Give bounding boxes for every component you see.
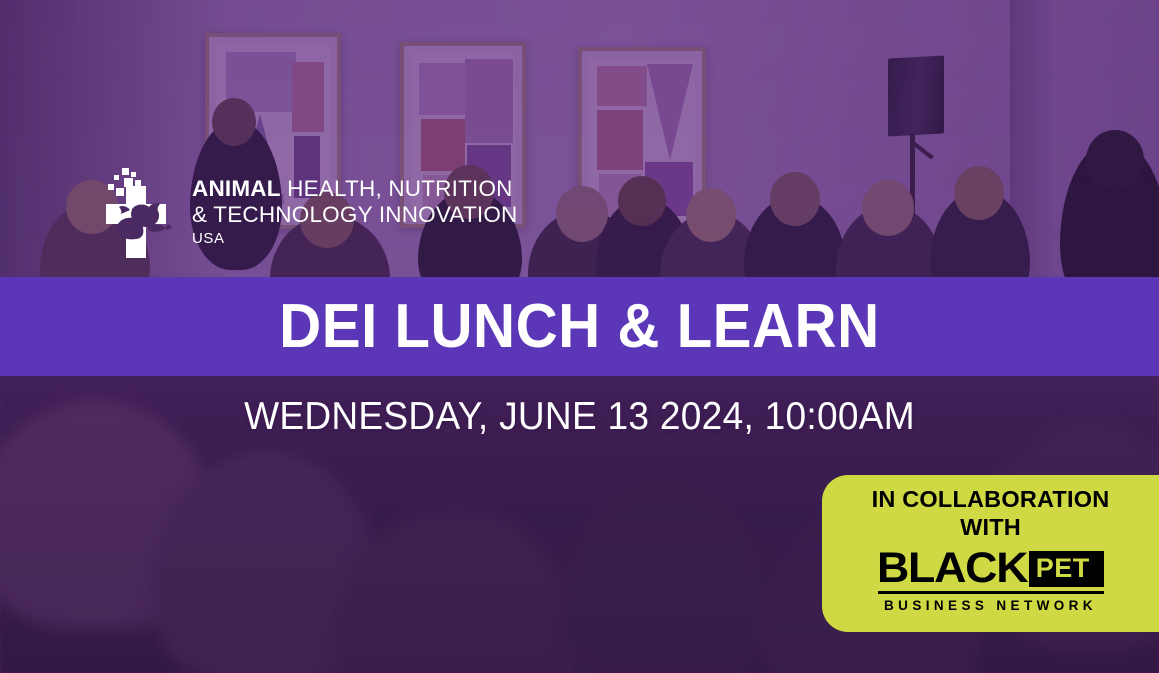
event-logo-wordmark: ANIMAL HEALTH, NUTRITION & TECHNOLOGY IN… bbox=[192, 178, 518, 246]
event-logo-line1-bold: ANIMAL bbox=[192, 176, 281, 201]
event-logo-line2: & TECHNOLOGY INNOVATION bbox=[192, 204, 518, 227]
partner-logo-row: BLACK PET bbox=[878, 550, 1104, 588]
event-logo-line1-rest: HEALTH, NUTRITION bbox=[281, 176, 513, 201]
event-logo-region: USA bbox=[192, 231, 518, 246]
event-promo-banner: ANIMAL HEALTH, NUTRITION & TECHNOLOGY IN… bbox=[0, 0, 1159, 673]
page-title: DEI LUNCH & LEARN bbox=[279, 296, 879, 358]
partner-logo: BLACK PET BUSINESS NETWORK bbox=[878, 550, 1104, 613]
collaboration-title-line2: WITH bbox=[836, 514, 1145, 542]
partner-tagline: BUSINESS NETWORK bbox=[878, 598, 1104, 613]
partner-name-main: BLACK bbox=[877, 550, 1027, 588]
animal-health-cross-icon bbox=[92, 166, 178, 258]
collaboration-title: IN COLLABORATION WITH bbox=[822, 486, 1159, 541]
collaboration-title-line1: IN COLLABORATION bbox=[836, 486, 1145, 514]
headline-band: DEI LUNCH & LEARN bbox=[0, 277, 1159, 376]
event-logo: ANIMAL HEALTH, NUTRITION & TECHNOLOGY IN… bbox=[92, 166, 518, 258]
event-datetime: WEDNESDAY, JUNE 13 2024, 10:00AM bbox=[29, 395, 1130, 439]
collaboration-badge: IN COLLABORATION WITH BLACK PET BUSINESS… bbox=[822, 475, 1159, 632]
partner-name-boxed: PET bbox=[1029, 551, 1104, 587]
